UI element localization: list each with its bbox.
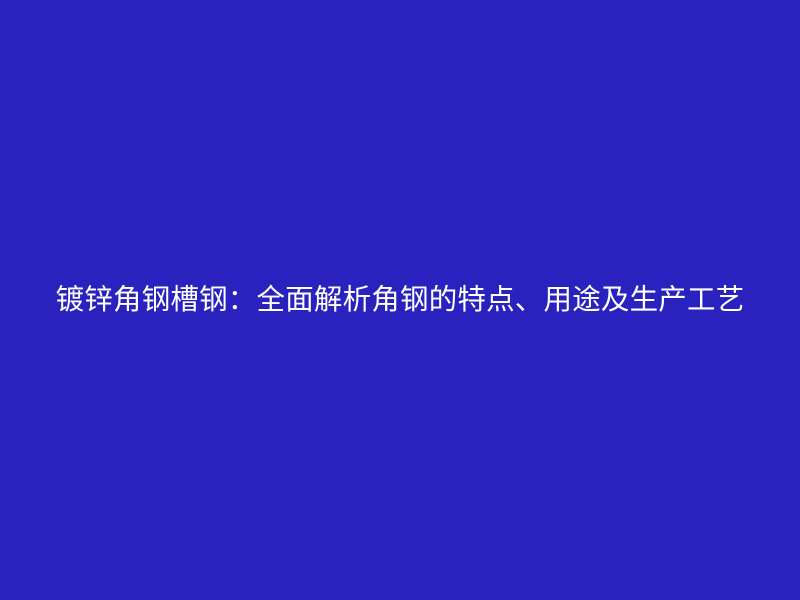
page-title: 镀锌角钢槽钢：全面解析角钢的特点、用途及生产工艺 — [52, 273, 748, 328]
title-block: 镀锌角钢槽钢：全面解析角钢的特点、用途及生产工艺 — [0, 273, 800, 328]
title-card: 镀锌角钢槽钢：全面解析角钢的特点、用途及生产工艺 — [0, 0, 800, 600]
